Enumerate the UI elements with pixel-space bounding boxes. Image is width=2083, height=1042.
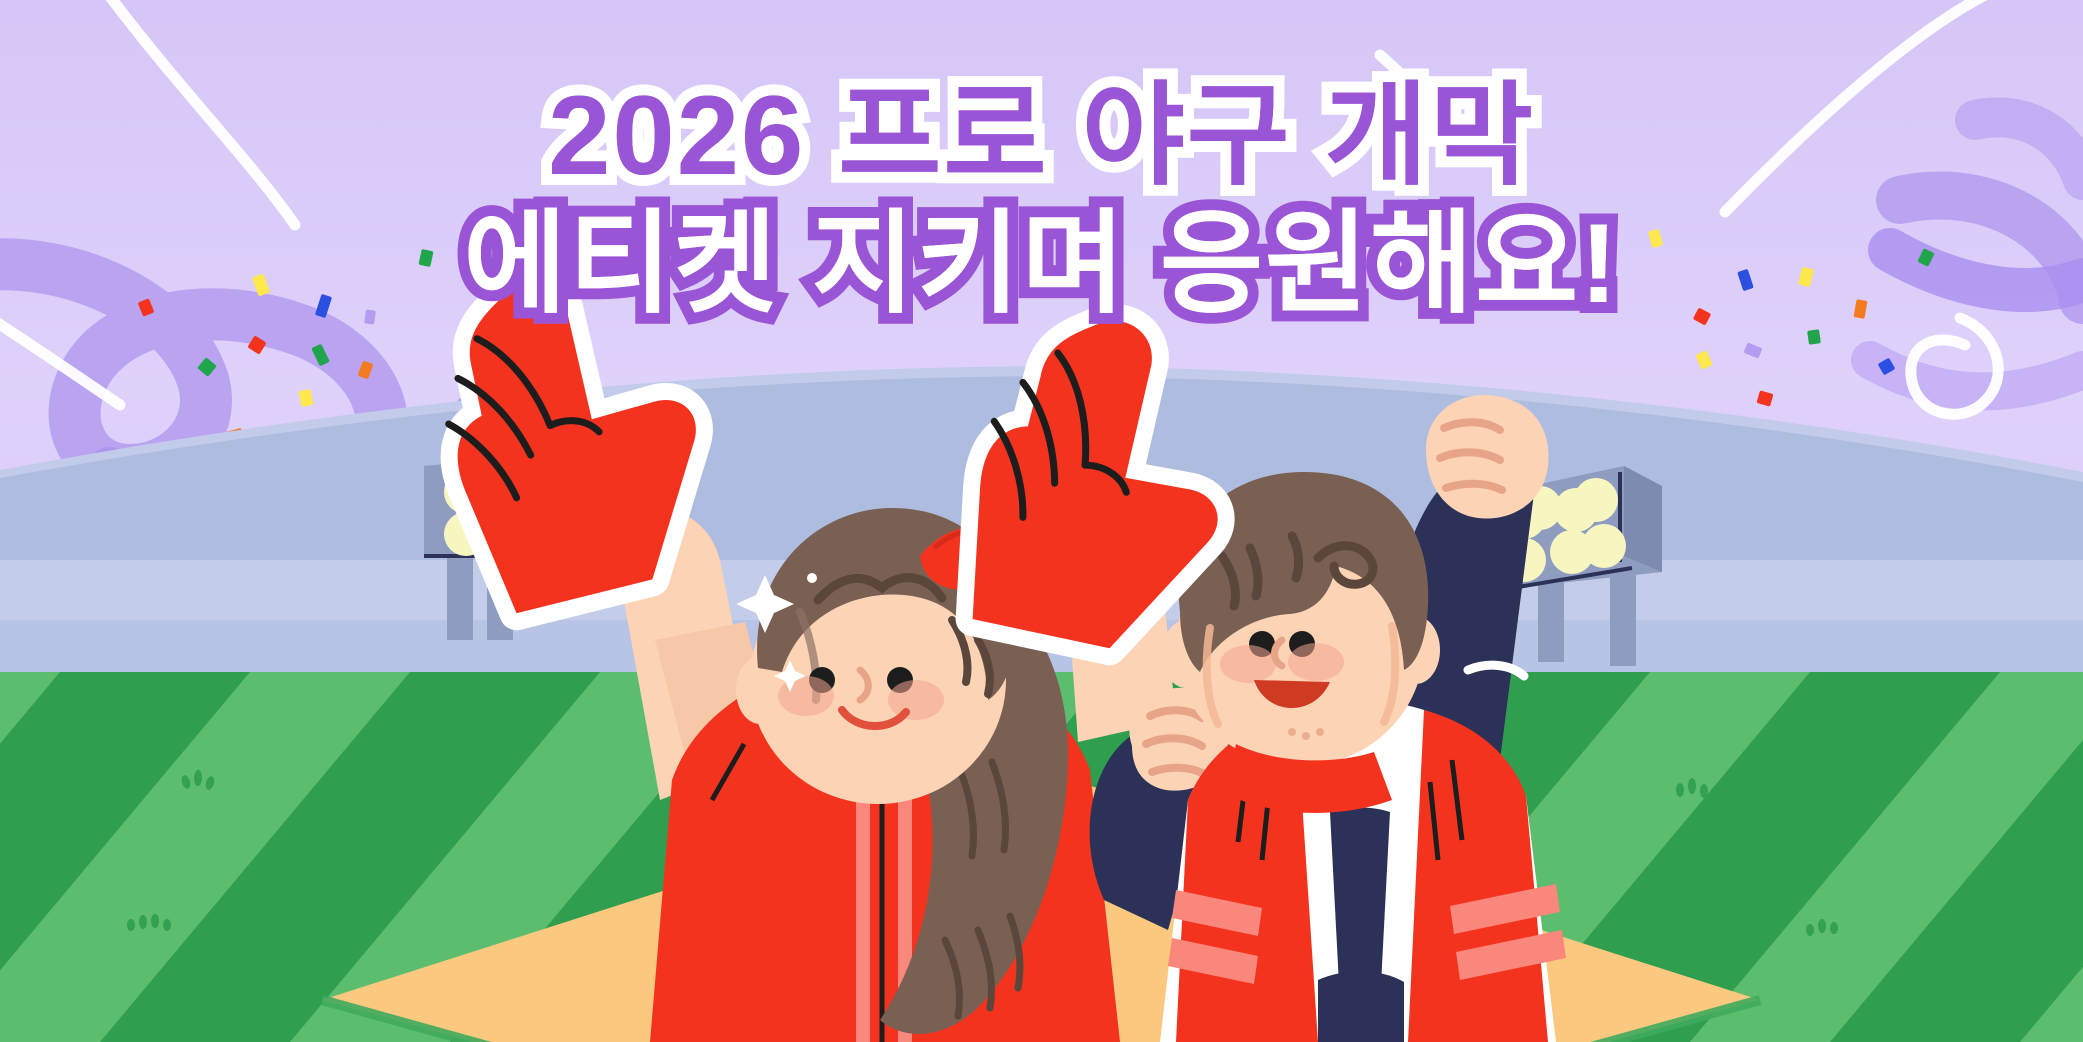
male-jacket-red-right <box>1408 710 1548 1042</box>
banner-root: 2026 프로 야구 개막 2026 프로 야구 개막 에티켓 지키며 응원해요… <box>0 0 2083 1042</box>
characters-layer <box>0 0 2083 1042</box>
male-fist <box>1426 395 1549 518</box>
